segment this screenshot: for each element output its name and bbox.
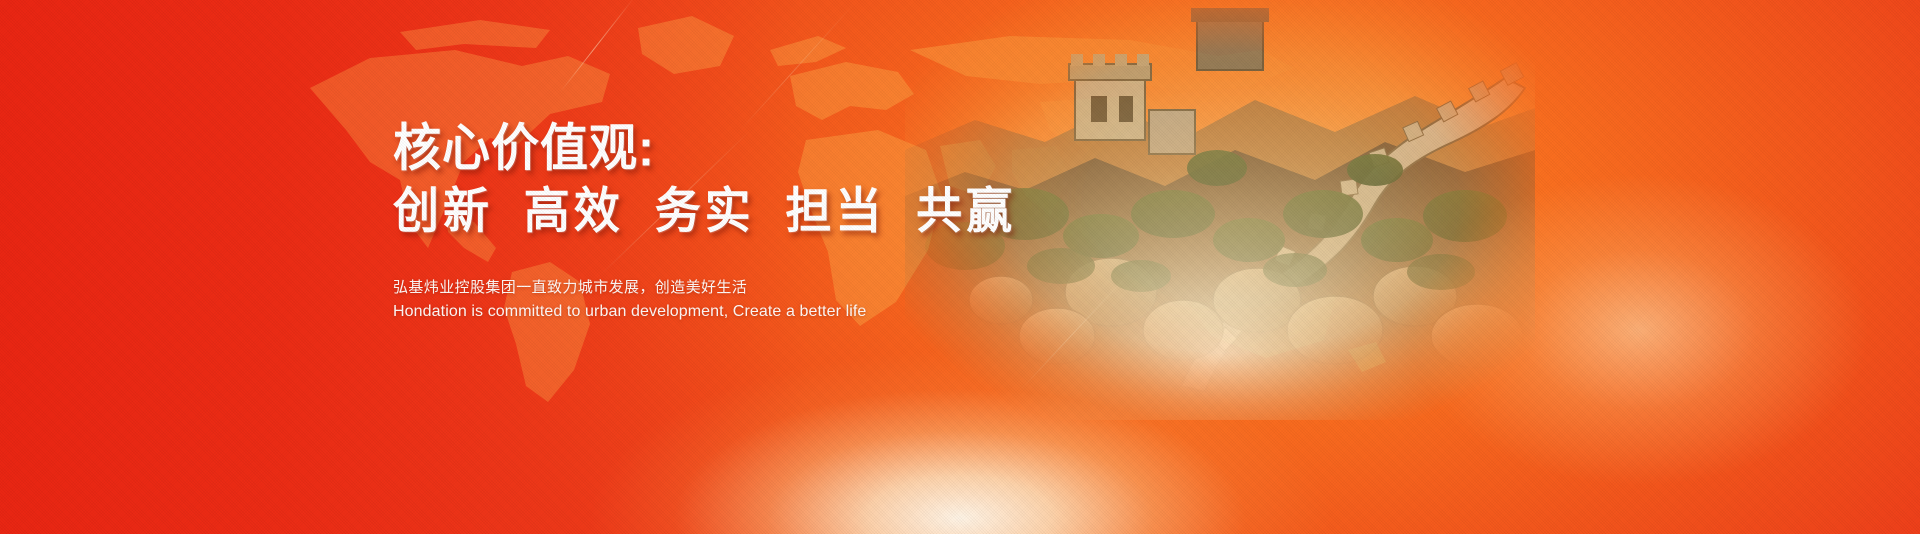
hero-banner: 核心价值观: 创新 高效 务实 担当 共赢 弘基炜业控股集团一直致力城市发展，创… xyxy=(0,0,1920,534)
value-word: 创新 xyxy=(393,183,493,238)
value-word: 务实 xyxy=(655,183,755,238)
value-word: 高效 xyxy=(524,183,624,238)
value-word: 担当 xyxy=(785,183,885,238)
banner-headline-secondary: 创新 高效 务实 担当 共赢 xyxy=(393,186,1153,235)
banner-headline-primary: 核心价值观: xyxy=(393,124,1153,175)
banner-subtitle-english: Hondation is committed to urban developm… xyxy=(393,299,1153,325)
banner-subtitle-chinese: 弘基炜业控股集团一直致力城市发展，创造美好生活 xyxy=(393,276,1153,299)
banner-subtitle-block: 弘基炜业控股集团一直致力城市发展，创造美好生活 Hondation is com… xyxy=(393,276,1153,325)
value-word: 共赢 xyxy=(916,183,1016,238)
banner-copy: 核心价值观: 创新 高效 务实 担当 共赢 弘基炜业控股集团一直致力城市发展，创… xyxy=(393,124,1153,325)
